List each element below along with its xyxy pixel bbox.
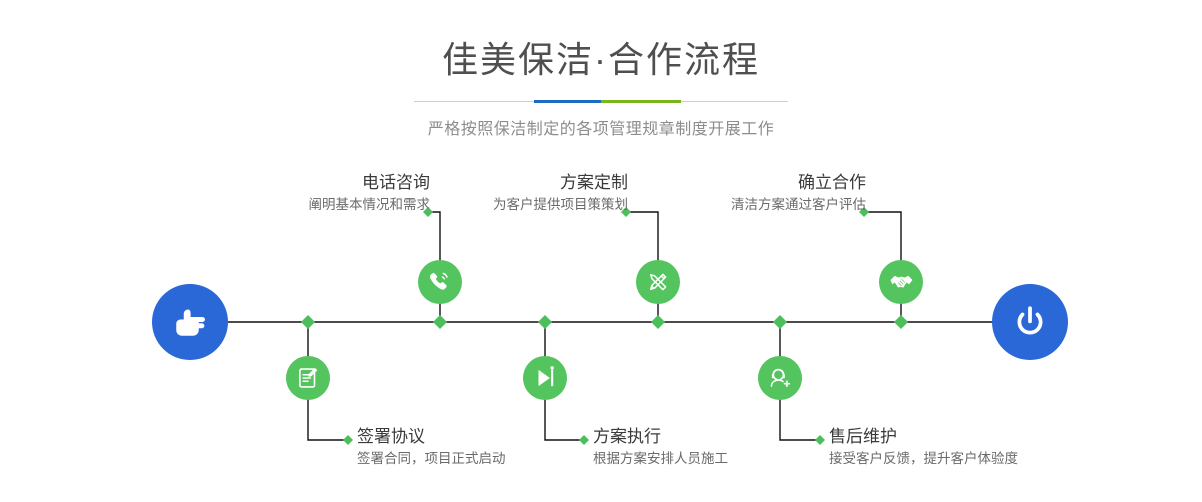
step-node-6[interactable]	[758, 356, 802, 400]
step-title-3: 方案定制	[408, 172, 628, 193]
title-divider	[414, 97, 788, 107]
axis-diamond-5	[894, 315, 908, 329]
timeline-end-cap[interactable]	[992, 284, 1068, 360]
label-diamonds	[343, 207, 869, 445]
divider-segment-blue	[534, 100, 601, 103]
step-subtitle-6: 接受客户反馈，提升客户体验度	[829, 450, 1159, 468]
step-node-4[interactable]	[523, 356, 567, 400]
page-subtitle: 严格按照保洁制定的各项管理规章制度开展工作	[0, 115, 1202, 139]
label-diamond-2	[343, 435, 353, 445]
customer-service-add-icon	[767, 365, 793, 391]
process-timeline: 电话咨询 阐明基本情况和需求 签署协议 签署合同，项目正式启动 方案定制 为客户…	[0, 150, 1202, 502]
step-subtitle-3: 为客户提供项目策策划	[408, 196, 628, 214]
step-node-1[interactable]	[418, 260, 462, 304]
step-title-1: 电话咨询	[190, 172, 430, 193]
axis-diamond-4	[538, 315, 552, 329]
document-edit-icon	[295, 365, 321, 391]
step-title-6: 售后维护	[829, 426, 1159, 447]
step-label-5: 确立合作 清洁方案通过客户评估	[646, 172, 866, 214]
axis-diamond-1	[433, 315, 447, 329]
step-subtitle-5: 清洁方案通过客户评估	[646, 196, 866, 214]
timeline-start-cap[interactable]	[152, 284, 228, 360]
power-icon	[1010, 302, 1050, 342]
handshake-icon	[888, 269, 915, 296]
divider-segment-green	[601, 100, 681, 103]
play-skip-icon	[532, 365, 558, 391]
pointing-hand-icon	[170, 302, 210, 342]
step-node-5[interactable]	[879, 260, 923, 304]
page-header: 佳美保洁·合作流程 严格按照保洁制定的各项管理规章制度开展工作	[0, 0, 1202, 150]
step-label-1: 电话咨询 阐明基本情况和需求	[190, 172, 430, 214]
pencil-ruler-icon	[645, 269, 671, 295]
step-label-6: 售后维护 接受客户反馈，提升客户体验度	[829, 426, 1159, 468]
step-title-5: 确立合作	[646, 172, 866, 193]
axis-diamond-6	[773, 315, 787, 329]
step-subtitle-1: 阐明基本情况和需求	[190, 196, 430, 214]
step-node-3[interactable]	[636, 260, 680, 304]
step-node-2[interactable]	[286, 356, 330, 400]
axis-diamond-3	[651, 315, 665, 329]
page-title: 佳美保洁·合作流程	[0, 0, 1202, 81]
step-label-3: 方案定制 为客户提供项目策策划	[408, 172, 628, 214]
axis-diamond-2	[301, 315, 315, 329]
phone-call-icon	[427, 269, 453, 295]
